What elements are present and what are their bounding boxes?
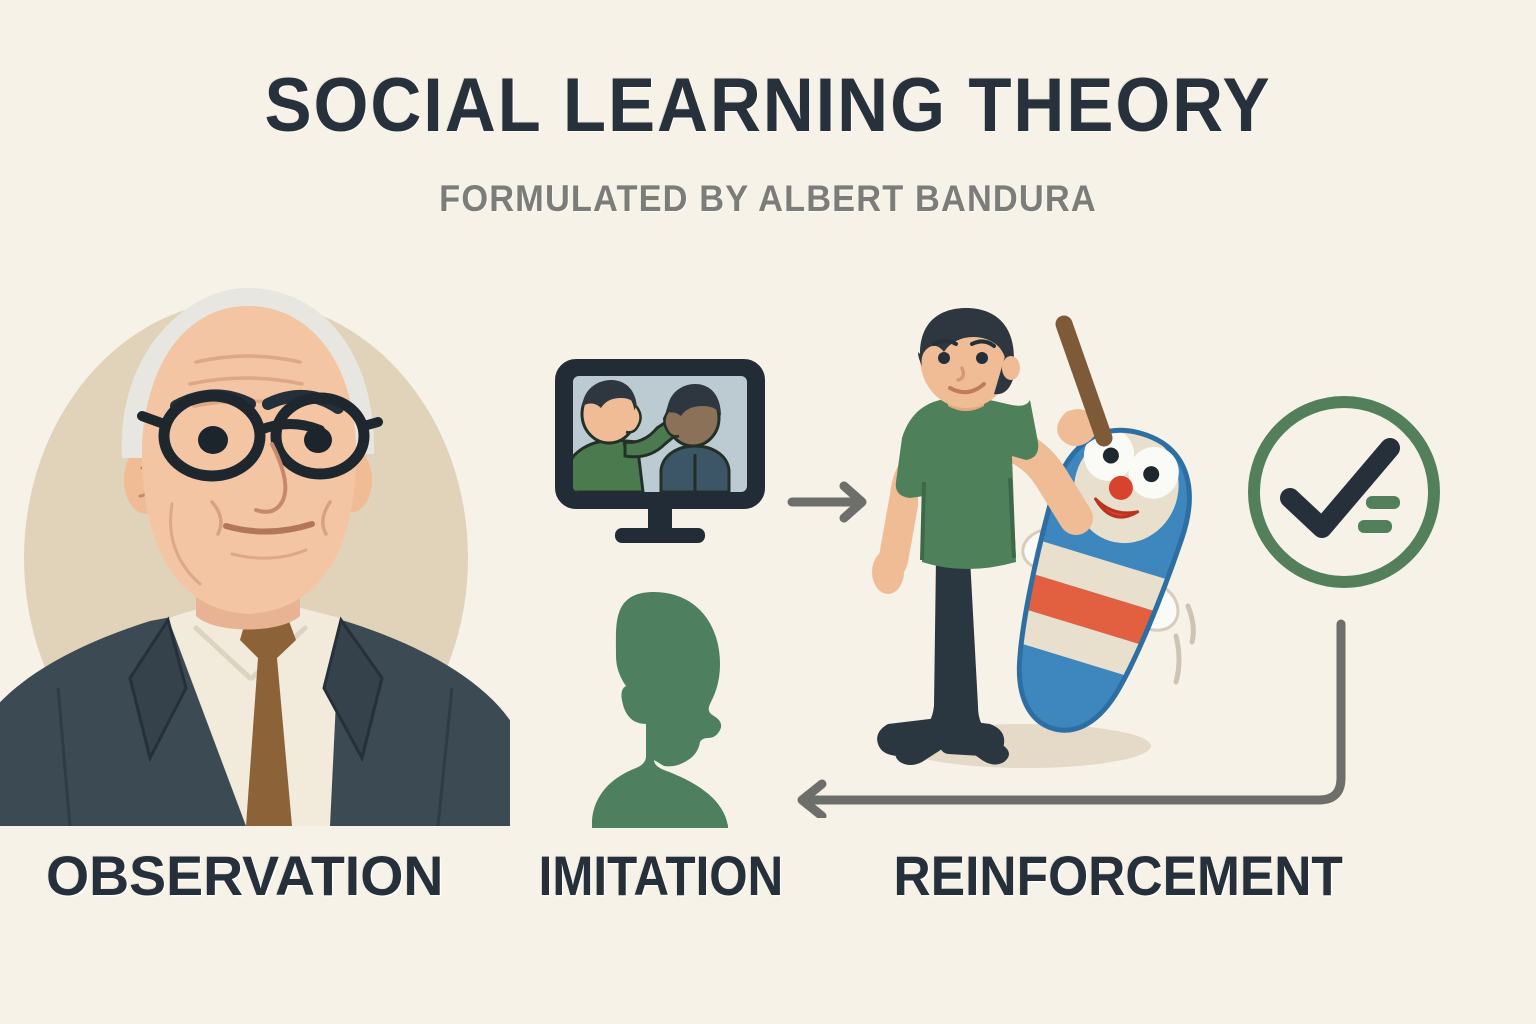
infographic-canvas: SOCIAL LEARNING THEORY FORMULATED BY ALB…: [0, 0, 1536, 1024]
page-subtitle: FORMULATED BY ALBERT BANDURA: [54, 178, 1482, 220]
reinforcement-check-badge: [1238, 386, 1450, 598]
albert-bandura-portrait: [0, 258, 510, 830]
imitation-silhouette: [588, 588, 740, 828]
stage-label-imitation: IMITATION: [539, 843, 784, 908]
stage-label-observation: OBSERVATION: [46, 843, 443, 908]
feedback-loop-arrow: [780, 610, 1360, 818]
page-title: SOCIAL LEARNING THEORY: [54, 62, 1482, 149]
television-observation-scene: [553, 358, 781, 554]
stage-label-reinforcement: REINFORCEMENT: [894, 843, 1343, 908]
